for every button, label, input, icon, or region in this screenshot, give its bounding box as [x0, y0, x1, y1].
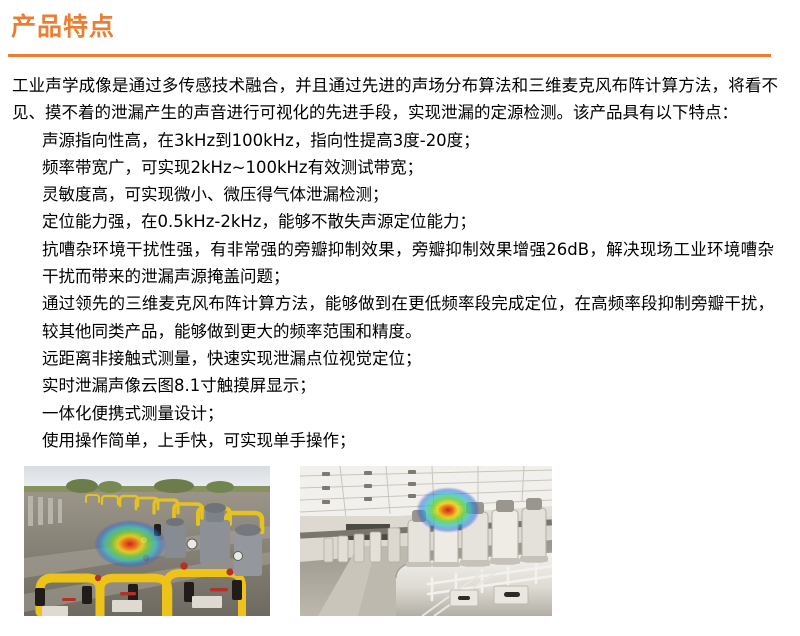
feature-item-6: 远距离非接触式测量，快速实现泄漏点位视觉定位； — [0, 345, 800, 372]
title-divider-rule — [8, 54, 771, 57]
page-title: 产品特点 — [11, 11, 115, 43]
slide-header: 产品特点 — [0, 0, 800, 58]
intro-paragraph: 工业声学成像是通过多传感技术融合，并且通过先进的声场分布算法和三维麦克风布阵计算… — [0, 72, 800, 127]
feature-item-1: 频率带宽广，可实现2kHz~100kHz有效测试带宽； — [0, 154, 800, 181]
feature-item-9: 使用操作简单，上手快，可实现单手操作； — [0, 427, 800, 454]
gas-pipeline-station-photo — [24, 466, 270, 616]
feature-item-5: 通过领先的三维麦克风布阵计算方法，能够做到在更低频率段完成定位，在高频率段抑制旁… — [0, 290, 800, 345]
industrial-plant-interior-photo — [300, 466, 552, 616]
acoustic-heatmap-overlay — [416, 487, 480, 533]
body-copy: 工业声学成像是通过多传感技术融合，并且通过先进的声场分布算法和三维麦克风布阵计算… — [0, 72, 800, 454]
feature-item-4: 抗嘈杂环境干扰性强，有非常强的旁瓣抑制效果，旁瓣抑制效果增强26dB，解决现场工… — [0, 236, 800, 291]
feature-item-0: 声源指向性高，在3kHz到100kHz，指向性提高3度-20度； — [0, 127, 800, 154]
feature-item-7: 实时泄漏声像云图8.1寸触摸屏显示； — [0, 372, 800, 399]
feature-item-8: 一体化便携式测量设计； — [0, 400, 800, 427]
feature-item-2: 灵敏度高，可实现微小、微压得气体泄漏检测； — [0, 181, 800, 208]
photo-strip: 0 50 100 150 — [0, 466, 800, 618]
feature-list: 声源指向性高，在3kHz到100kHz，指向性提高3度-20度； 频率带宽广，可… — [0, 127, 800, 455]
acoustic-heatmap-overlay — [94, 520, 166, 568]
feature-item-3: 定位能力强，在0.5kHz-2kHz，能够不散失声源定位能力； — [0, 208, 800, 235]
slide-root: 产品特点 工业声学成像是通过多传感技术融合，并且通过先进的声场分布算法和三维麦克… — [0, 0, 800, 636]
